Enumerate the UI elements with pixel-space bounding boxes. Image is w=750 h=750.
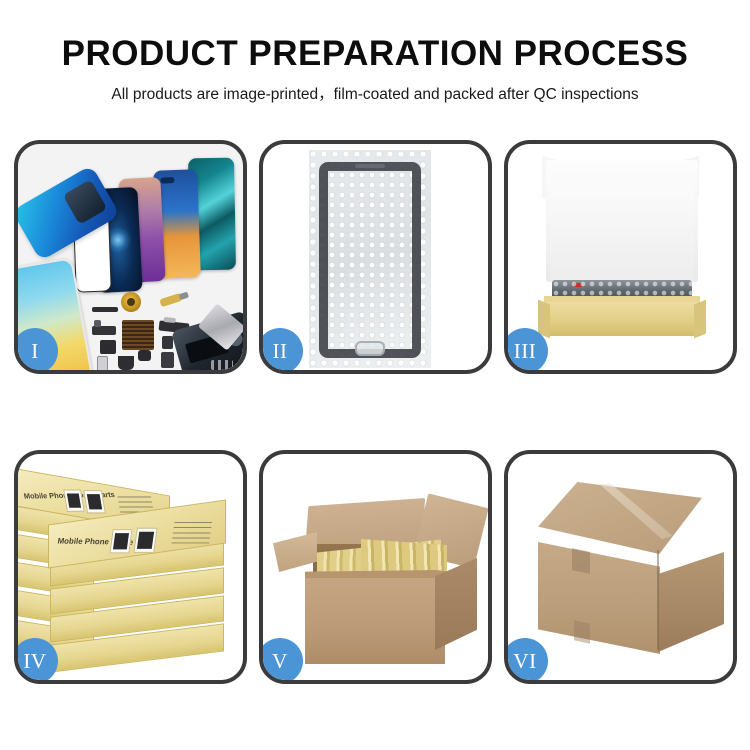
step-badge-1: I — [14, 328, 58, 374]
part-connector-grid — [122, 320, 154, 350]
step-panel-3: III — [504, 140, 737, 374]
part-connector — [92, 326, 116, 335]
process-steps-grid: I II III — [14, 140, 736, 688]
page-header: PRODUCT PREPARATION PROCESS All products… — [0, 0, 750, 128]
part-coil — [121, 292, 141, 312]
step-panel-6: VI — [504, 450, 737, 684]
phone-front-glass — [319, 162, 421, 358]
part-camera-module — [138, 350, 151, 361]
step-badge-3: III — [504, 328, 548, 374]
box-thumb — [83, 490, 106, 513]
step-panel-1: I — [14, 140, 247, 374]
box-thumb — [109, 529, 132, 553]
carton-front-wall — [305, 578, 445, 664]
page-title: PRODUCT PREPARATION PROCESS — [0, 34, 750, 74]
box-front-wall — [544, 302, 700, 336]
step-panel-2: II — [259, 140, 492, 374]
part-battery-connector — [161, 352, 174, 368]
part-bracket — [100, 340, 116, 354]
red-label-mark — [574, 283, 582, 287]
page-subtitle: All products are image-printed，film-coat… — [0, 84, 750, 106]
box-thumb — [133, 528, 157, 553]
carton-seam — [574, 620, 590, 643]
carton-corner-edge — [657, 550, 659, 650]
part-strip — [92, 307, 118, 312]
step-badge-6: VI — [504, 638, 548, 684]
part-speaker — [118, 356, 134, 370]
part-screws — [211, 360, 233, 370]
box-spec-lines — [172, 519, 213, 543]
step-panel-4: Mobile Phone Spare Parts Mobile Phone Sp… — [14, 450, 247, 684]
step-panel-5: V — [259, 450, 492, 684]
carton-seam — [572, 548, 590, 574]
home-button-cutout — [355, 341, 385, 356]
part-vibrator — [162, 336, 173, 349]
step-badge-5: V — [259, 638, 303, 684]
part-sim-tray — [97, 356, 108, 370]
box-foam-lining — [550, 186, 694, 282]
step-badge-2: II — [259, 328, 303, 374]
box-thumb — [63, 489, 85, 511]
step-badge-4: IV — [14, 638, 58, 684]
